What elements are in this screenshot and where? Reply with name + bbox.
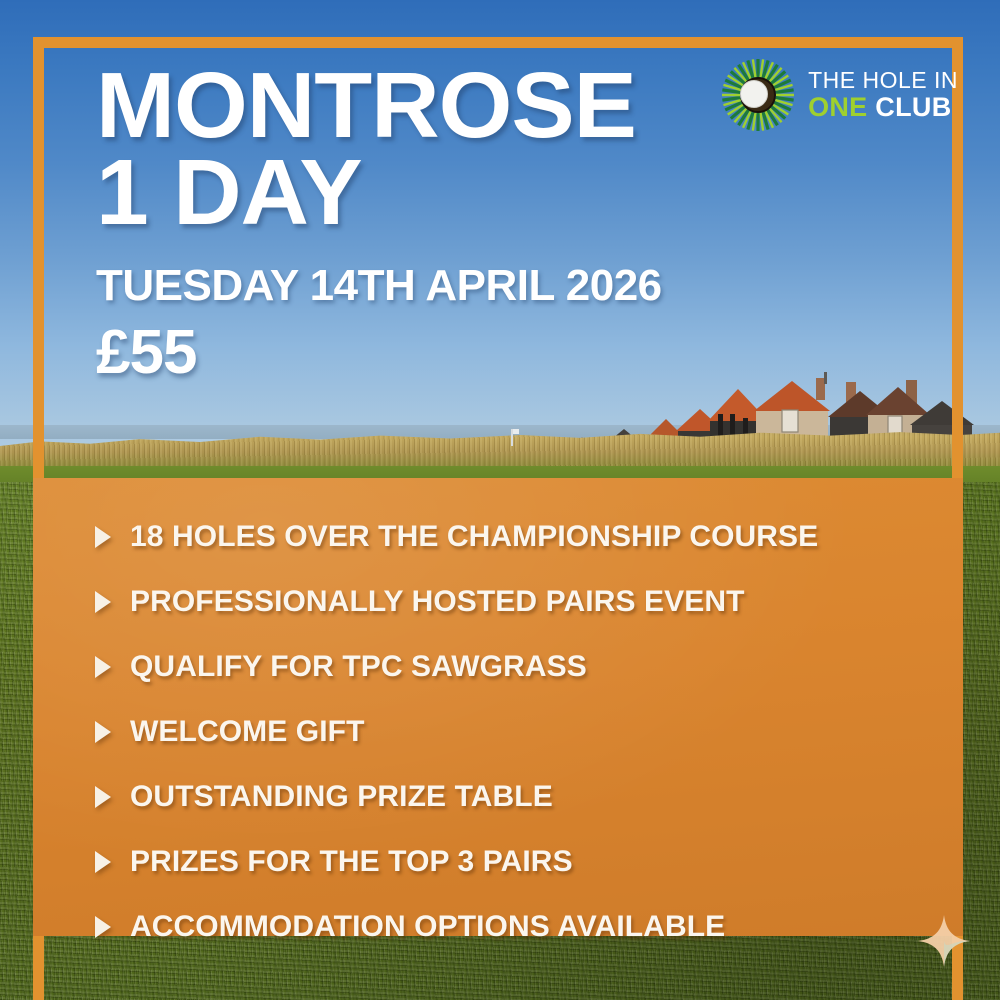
list-item: QUALIFY FOR TPC SAWGRASS [95, 634, 923, 699]
flagstick-icon [511, 429, 513, 446]
list-item-label: PRIZES FOR THE TOP 3 PAIRS [130, 845, 573, 879]
brand-logo-line-2: ONE CLUB [808, 94, 958, 121]
event-price: £55 [96, 317, 716, 388]
brand-logo-one-word: ONE [808, 92, 867, 122]
brand-logo-club-word: CLUB [868, 92, 952, 122]
triangle-bullet-icon [95, 526, 111, 548]
triangle-bullet-icon [95, 591, 111, 613]
list-item-label: OUTSTANDING PRIZE TABLE [130, 780, 553, 814]
triangle-bullet-icon [95, 786, 111, 808]
list-item-label: 18 HOLES OVER THE CHAMPIONSHIP COURSE [130, 520, 818, 554]
list-item: ACCOMMODATION OPTIONS AVAILABLE [95, 894, 923, 959]
golf-ball-sunburst-hole-icon [721, 58, 795, 132]
list-item-label: PROFESSIONALLY HOSTED PAIRS EVENT [130, 585, 745, 619]
list-item-label: ACCOMMODATION OPTIONS AVAILABLE [130, 910, 725, 944]
features-list: 18 HOLES OVER THE CHAMPIONSHIP COURSE PR… [95, 504, 923, 959]
headline-block: MONTROSE 1 DAY TUESDAY 14TH APRIL 2026 £… [96, 62, 716, 388]
triangle-bullet-icon [95, 721, 111, 743]
list-item: WELCOME GIFT [95, 699, 923, 764]
brand-logo-text: THE HOLE IN ONE CLUB [808, 69, 958, 121]
event-date: TUESDAY 14TH APRIL 2026 [96, 261, 716, 311]
page-title-line-1: MONTROSE [96, 62, 728, 149]
four-point-sparkle-ornament [916, 913, 972, 969]
list-item: OUTSTANDING PRIZE TABLE [95, 764, 923, 829]
features-panel: 18 HOLES OVER THE CHAMPIONSHIP COURSE PR… [33, 478, 963, 936]
page-title-line-2: 1 DAY [96, 149, 728, 236]
list-item: PROFESSIONALLY HOSTED PAIRS EVENT [95, 569, 923, 634]
list-item-label: WELCOME GIFT [130, 715, 365, 749]
list-item-label: QUALIFY FOR TPC SAWGRASS [130, 650, 587, 684]
list-item: PRIZES FOR THE TOP 3 PAIRS [95, 829, 923, 894]
triangle-bullet-icon [95, 656, 111, 678]
triangle-bullet-icon [95, 851, 111, 873]
list-item: 18 HOLES OVER THE CHAMPIONSHIP COURSE [95, 504, 923, 569]
brand-logo-line-1: THE HOLE IN [808, 69, 958, 92]
poster-canvas: MONTROSE 1 DAY TUESDAY 14TH APRIL 2026 £… [0, 0, 1000, 1000]
triangle-bullet-icon [95, 916, 111, 938]
brand-logo[interactable]: THE HOLE IN ONE CLUB [721, 58, 958, 132]
